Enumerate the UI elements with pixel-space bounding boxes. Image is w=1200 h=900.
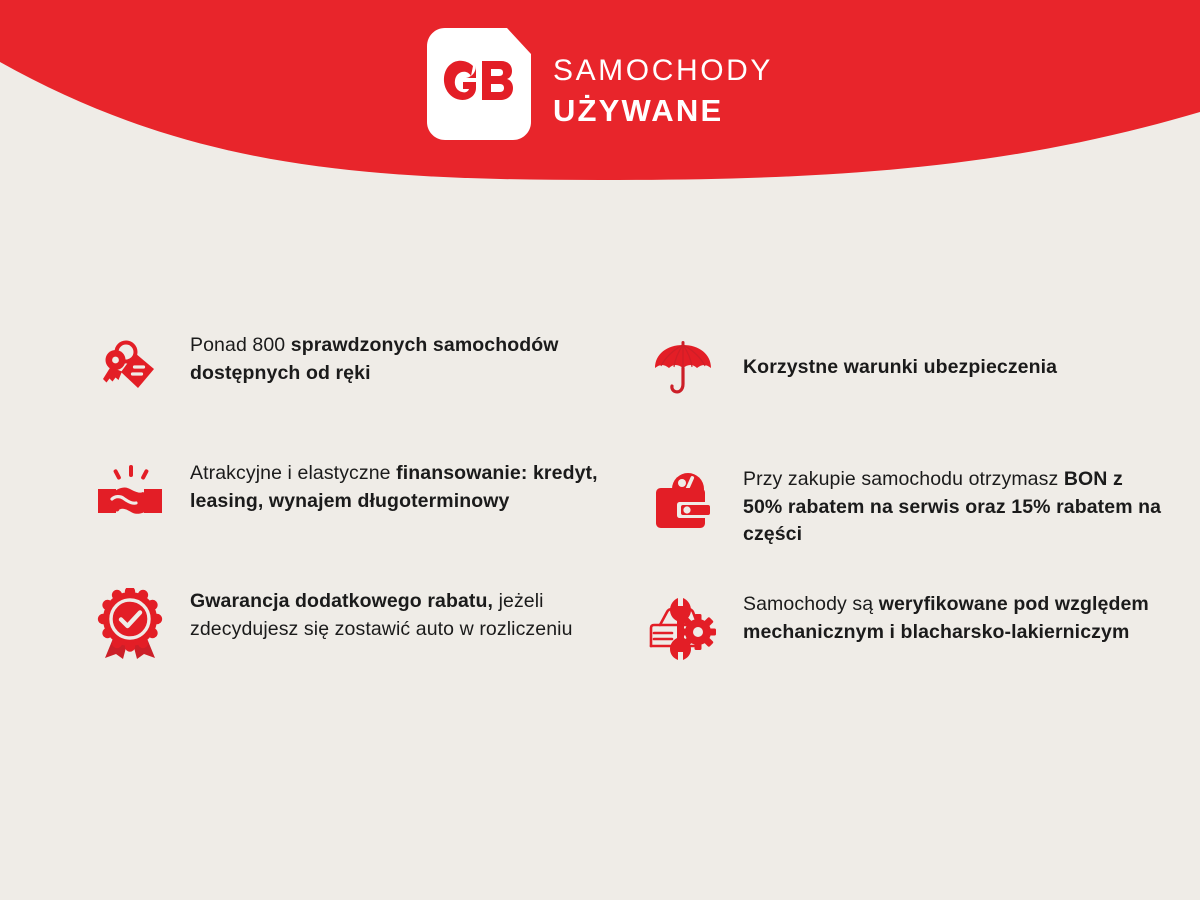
- feature-text-regular: Atrakcyjne i elastyczne: [190, 462, 396, 484]
- feature-item: Atrakcyjne i elastyczne finansowanie: kr…: [92, 458, 612, 534]
- feature-text-regular: Samochody są: [743, 593, 879, 615]
- award-rosette-icon: [92, 586, 168, 662]
- brand-wordmark: SAMOCHODY UŻYWANE: [553, 42, 773, 126]
- feature-text: Korzystne warunki ubezpieczenia: [743, 354, 1057, 382]
- feature-text: Gwarancja dodatkowego rabatu, jeżeli zde…: [190, 586, 610, 643]
- wordmark-line-1: SAMOCHODY: [553, 56, 773, 86]
- wordmark-line-2: UŻYWANE: [553, 95, 773, 126]
- handshake-icon: [92, 458, 168, 534]
- feature-text: Ponad 800 sprawdzonych samochodów dostęp…: [190, 330, 610, 387]
- poster-root: SAMOCHODY UŻYWANE: [0, 0, 1200, 900]
- car-keys-icon: [92, 330, 168, 406]
- feature-text-regular: Przy zakupie samochodu otrzymasz: [743, 468, 1064, 490]
- gb-logo-mark[interactable]: [427, 28, 531, 140]
- wallet-percent-icon: [645, 464, 721, 540]
- feature-text-bold: Korzystne warunki ubezpieczenia: [743, 356, 1057, 378]
- feature-column-left: Ponad 800 sprawdzonych samochodów dostęp…: [92, 330, 612, 662]
- feature-text: Samochody są weryfikowane pod względem m…: [743, 589, 1163, 646]
- feature-item: Ponad 800 sprawdzonych samochodów dostęp…: [92, 330, 612, 406]
- feature-column-right: Korzystne warunki ubezpieczenia: [645, 330, 1165, 665]
- feature-item: Przy zakupie samochodu otrzymasz BON z 5…: [645, 464, 1165, 549]
- feature-text-bold: Gwarancja dodatkowego rabatu,: [190, 590, 493, 612]
- car-service-wrench-icon: [645, 589, 721, 665]
- feature-item: Gwarancja dodatkowego rabatu, jeżeli zde…: [92, 586, 612, 662]
- feature-text: Przy zakupie samochodu otrzymasz BON z 5…: [743, 464, 1163, 549]
- feature-item: Korzystne warunki ubezpieczenia: [645, 330, 1165, 406]
- umbrella-icon: [645, 330, 721, 406]
- feature-item: Samochody są weryfikowane pod względem m…: [645, 589, 1165, 665]
- feature-text: Atrakcyjne i elastyczne finansowanie: kr…: [190, 458, 610, 515]
- feature-text-regular: Ponad 800: [190, 334, 291, 356]
